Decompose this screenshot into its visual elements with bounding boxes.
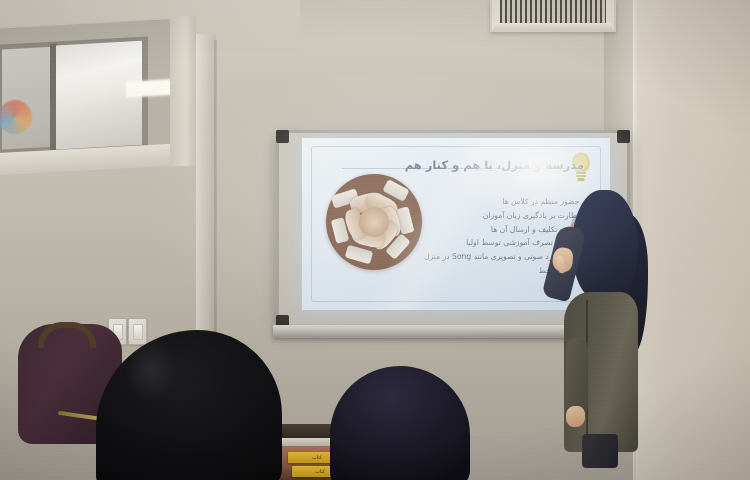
teacher-lower-arm (566, 338, 588, 416)
vent-grille (500, 0, 606, 24)
classroom-photo: مدرسه و منزل، با هم و کنار هم حضور منظم … (0, 0, 750, 480)
interior-window (0, 19, 172, 161)
teacher-legs (582, 434, 618, 468)
student-left-sheen (124, 338, 178, 402)
window-pane-left (2, 47, 50, 150)
hands-center (359, 207, 389, 237)
board-corner-tl (276, 130, 289, 143)
wall-seam-line (214, 40, 217, 336)
window-post (170, 16, 196, 167)
air-vent-icon (490, 0, 616, 32)
teacher (546, 188, 654, 456)
slide-title: مدرسه و منزل، با هم و کنار هم (405, 158, 584, 172)
wall-seam (196, 34, 216, 334)
board-corner-tr (617, 130, 630, 143)
vent-lip (494, 23, 612, 30)
teacher-resting-hand (566, 406, 585, 427)
pointing-hand (552, 247, 574, 273)
window-pane-right (56, 41, 142, 150)
pointing-finger (555, 255, 566, 274)
window-frame-inner (0, 36, 148, 156)
